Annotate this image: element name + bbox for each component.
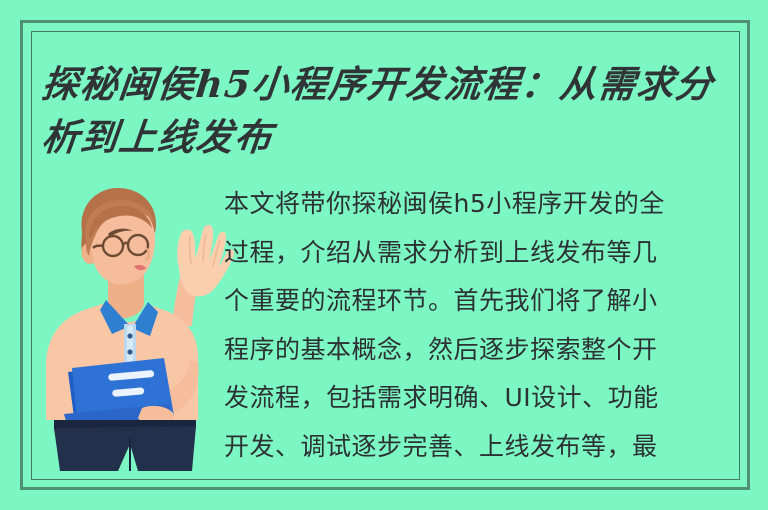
body-line-6: 开发、调试逐步完善、上线发布等，最	[224, 423, 724, 472]
body-line-1: 本文将带你探秘闽侯h5小程序开发的全	[224, 180, 724, 229]
body-line-3: 个重要的流程环节。首先我们将了解小	[224, 277, 724, 326]
body-line-2: 过程，介绍从需求分析到上线发布等几	[224, 229, 724, 278]
button-2	[127, 349, 132, 354]
title-line-2: 析到上线发布	[39, 111, 735, 164]
button-1	[127, 333, 132, 338]
title-line-1: 探秘闽侯h5小程序开发流程：从需求分	[39, 58, 735, 111]
page-title: 探秘闽侯h5小程序开发流程：从需求分 析到上线发布	[42, 58, 732, 164]
illustration-man-waving	[46, 176, 236, 471]
poster-canvas: 探秘闽侯h5小程序开发流程：从需求分 析到上线发布	[0, 0, 768, 510]
body-line-4: 程序的基本概念，然后逐步探索整个开	[224, 326, 724, 375]
pants	[54, 426, 196, 471]
body-line-5: 发流程，包括需求明确、UI设计、功能	[224, 374, 724, 423]
body-paragraph: 本文将带你探秘闽侯h5小程序开发的全 过程，介绍从需求分析到上线发布等几 个重要…	[224, 180, 724, 471]
